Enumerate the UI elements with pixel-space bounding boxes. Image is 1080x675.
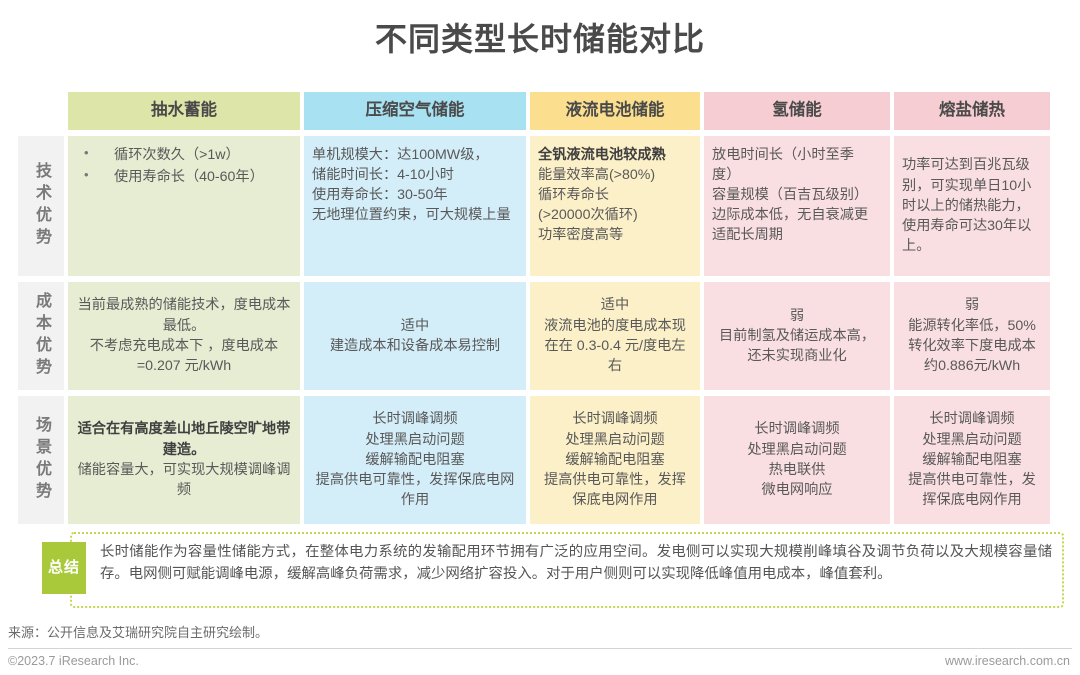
list-item: 使用寿命长（40-60年） bbox=[80, 167, 292, 187]
comparison-table: 抽水蓄能 压缩空气储能 液流电池储能 氢储能 熔盐储热 技术优势 循环次数久（>… bbox=[18, 92, 1064, 524]
cell-cost-molten-salt: 弱 能源转化率低，50%转化效率下度电成本约0.886元/kWh bbox=[894, 282, 1050, 390]
column-header-molten-salt: 熔盐储热 bbox=[894, 92, 1050, 130]
cell-lead-text: 适合在有高度差山地丘陵空旷地带建造。 bbox=[76, 419, 292, 459]
cell-tech-hydrogen: 放电时间长（小时至季度） 容量规模（百吉瓦级别） 边际成本低，无自衰减更适配长周… bbox=[704, 136, 890, 276]
cell-tech-flow-battery: 全钒液流电池较成熟 能量效率高(>80%) 循环寿命长 (>20000次循环) … bbox=[530, 136, 700, 276]
cell-scenario-pumped-hydro: 适合在有高度差山地丘陵空旷地带建造。 储能容量大，可实现大规模调峰调频 bbox=[68, 396, 300, 524]
copyright-text: ©2023.7 iResearch Inc. bbox=[8, 654, 139, 668]
summary-badge: 总结 bbox=[42, 542, 86, 594]
column-header-compressed-air: 压缩空气储能 bbox=[304, 92, 526, 130]
website-url: www.iresearch.com.cn bbox=[945, 654, 1070, 668]
cell-tech-compressed-air: 单机规模大：达100MW级， 储能时间长：4-10小时 使用寿命长：30-50年… bbox=[304, 136, 526, 276]
row-label-scenario-advantage: 场景优势 bbox=[18, 396, 64, 524]
bottom-bar bbox=[0, 669, 1080, 675]
cell-scenario-hydrogen: 长时调峰调频 处理黑启动问题 热电联供 微电网响应 bbox=[704, 396, 890, 524]
column-header-pumped-hydro: 抽水蓄能 bbox=[68, 92, 300, 130]
list-item: 循环次数久（>1w） bbox=[80, 145, 292, 165]
summary-text: 长时储能作为容量性储能方式，在整体电力系统的发输配用环节拥有广泛的应用空间。发电… bbox=[100, 541, 1052, 586]
row-label-cost-advantage: 成本优势 bbox=[18, 282, 64, 390]
cell-scenario-compressed-air: 长时调峰调频 处理黑启动问题 缓解输配电阻塞 提高供电可靠性，发挥保底电网作用 bbox=[304, 396, 526, 524]
tech-pumped-hydro-bullet-list: 循环次数久（>1w） 使用寿命长（40-60年） bbox=[76, 145, 292, 187]
cell-body-text: 储能容量大，可实现大规模调峰调频 bbox=[76, 460, 292, 500]
slide-root: 不同类型长时储能对比 抽水蓄能 压缩空气储能 液流电池储能 氢储能 熔盐储热 技… bbox=[0, 0, 1080, 675]
source-note: 来源：公开信息及艾瑞研究院自主研究绘制。 bbox=[8, 622, 268, 641]
cell-tech-molten-salt: 功率可达到百兆瓦级别，可实现单日10小时以上的储热能力，使用寿命可达30年以上。 bbox=[894, 136, 1050, 276]
cell-scenario-molten-salt: 长时调峰调频 处理黑启动问题 缓解输配电阻塞 提高供电可靠性，发挥保底电网作用 bbox=[894, 396, 1050, 524]
cell-cost-pumped-hydro: 当前最成熟的储能技术，度电成本最低。 不考虑充电成本下 ，度电成本=0.207 … bbox=[68, 282, 300, 390]
table-grid: 抽水蓄能 压缩空气储能 液流电池储能 氢储能 熔盐储热 技术优势 循环次数久（>… bbox=[18, 92, 1064, 524]
cell-lead-text: 全钒液流电池较成熟 bbox=[538, 145, 692, 165]
cell-scenario-flow-battery: 长时调峰调频 处理黑启动问题 缓解输配电阻塞 提高供电可靠性，发挥保底电网作用 bbox=[530, 396, 700, 524]
cell-cost-flow-battery: 适中 液流电池的度电成本现在在 0.3-0.4 元/度电左右 bbox=[530, 282, 700, 390]
cell-tech-pumped-hydro: 循环次数久（>1w） 使用寿命长（40-60年） bbox=[68, 136, 300, 276]
cell-cost-hydrogen: 弱 目前制氢及储运成本高，还未实现商业化 bbox=[704, 282, 890, 390]
row-label-tech-advantage: 技术优势 bbox=[18, 136, 64, 276]
page-title: 不同类型长时储能对比 bbox=[0, 14, 1080, 60]
column-header-flow-battery: 液流电池储能 bbox=[530, 92, 700, 130]
column-header-hydrogen: 氢储能 bbox=[704, 92, 890, 130]
footer-divider bbox=[8, 648, 1072, 649]
table-corner-blank bbox=[18, 92, 64, 130]
cell-cost-compressed-air: 适中 建造成本和设备成本易控制 bbox=[304, 282, 526, 390]
cell-body-text: 能量效率高(>80%) 循环寿命长 (>20000次循环) 功率密度高等 bbox=[538, 167, 655, 243]
